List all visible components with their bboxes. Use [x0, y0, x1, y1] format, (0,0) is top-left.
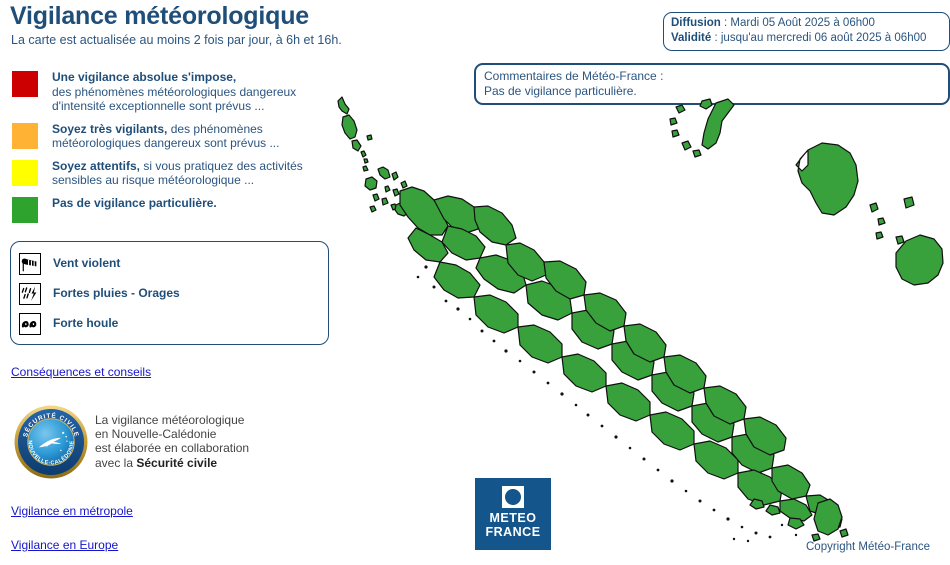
legend-strong-yellow: Soyez attentifs,	[52, 159, 140, 173]
comments-title: Commentaires de Météo-France :	[484, 69, 940, 84]
validity-value: : jusqu'au mercredi 06 août 2025 à 06h00	[711, 32, 926, 44]
secu-line-4: avec la Sécurité civile	[95, 456, 249, 470]
link-consequences-et-conseils[interactable]: Conséquences et conseils	[11, 365, 151, 379]
legend-text-green: Pas de vigilance particulière.	[52, 196, 332, 211]
map-region-belep	[338, 97, 372, 163]
legend-strong-green: Pas de vigilance particulière.	[52, 196, 217, 210]
legend-swatch-red	[12, 71, 38, 97]
link-vigilance-metropole[interactable]: Vigilance en métropole	[11, 504, 133, 518]
diffusion-value: : Mardi 05 Août 2025 à 06h00	[721, 17, 875, 29]
secu-line-2: en Nouvelle-Calédonie	[95, 427, 249, 441]
secu-line-4-prefix: avec la	[95, 456, 136, 470]
wave-swell-icon	[19, 313, 41, 335]
legend-swatch-orange	[12, 123, 38, 149]
map-region-lifou	[796, 143, 858, 215]
vigilance-map-new-caledonia[interactable]	[330, 95, 945, 550]
secu-line-1: La vigilance météorologique	[95, 413, 249, 427]
phenomenon-label-rain: Fortes pluies - Orages	[53, 286, 180, 300]
legend-text-red: Une vigilance absolue s'impose, des phén…	[52, 70, 332, 114]
diffusion-line: Diffusion : Mardi 05 Août 2025 à 06h00	[671, 16, 943, 31]
securite-civile-badge: SÉCURITÉ CIVILE NOUVELLE-CALÉDONIE	[13, 404, 89, 480]
phenomenon-label-wind: Vent violent	[53, 256, 120, 270]
map-region-ouvea	[670, 99, 734, 157]
secu-line-3: est élaborée en collaboration	[95, 441, 249, 455]
map-islets-lifou-mare	[870, 197, 914, 244]
legend-row-yellow: Soyez attentifs, si vous pratiquez des a…	[12, 159, 332, 188]
secu-line-4-strong: Sécurité civile	[136, 456, 217, 470]
legend-swatch-green	[12, 197, 38, 223]
map-region-grande-terre-south	[562, 324, 810, 505]
legend-row-red: Une vigilance absolue s'impose, des phén…	[12, 70, 332, 114]
page-subtitle: La carte est actualisée au moins 2 fois …	[11, 33, 342, 47]
validity-label: Validité	[671, 32, 711, 44]
legend-text-yellow: Soyez attentifs, si vous pratiquez des a…	[52, 159, 332, 188]
vigilance-legend: Une vigilance absolue s'impose, des phén…	[12, 70, 332, 230]
phenomena-legend-box: Vent violent Fortes pluies - Orages	[10, 241, 329, 345]
legend-rest-red: des phénomènes météorologiques dangereux…	[52, 85, 296, 114]
securite-civile-text: La vigilance météorologique en Nouvelle-…	[95, 413, 249, 470]
legend-swatch-yellow	[12, 160, 38, 186]
rain-thunderstorm-icon	[19, 283, 41, 305]
legend-row-orange: Soyez très vigilants, des phénomènes mét…	[12, 122, 332, 151]
map-region-grande-terre-north	[400, 187, 516, 262]
link-vigilance-europe[interactable]: Vigilance en Europe	[11, 538, 118, 552]
phenomenon-label-swell: Forte houle	[53, 316, 118, 330]
diffusion-label: Diffusion	[671, 17, 721, 29]
diffusion-validity-box: Diffusion : Mardi 05 Août 2025 à 06h00 V…	[663, 12, 950, 51]
map-region-grande-terre-central	[434, 243, 626, 363]
legend-text-orange: Soyez très vigilants, des phénomènes mét…	[52, 122, 332, 151]
windsock-icon	[19, 253, 41, 275]
map-region-ile-des-pins	[812, 499, 848, 541]
legend-strong-red: Une vigilance absolue s'impose,	[52, 70, 236, 84]
page-title: Vigilance météorologique	[10, 2, 309, 31]
legend-strong-orange: Soyez très vigilants,	[52, 122, 167, 136]
validity-line: Validité : jusqu'au mercredi 06 août 202…	[671, 31, 943, 46]
legend-row-green: Pas de vigilance particulière.	[12, 196, 332, 222]
